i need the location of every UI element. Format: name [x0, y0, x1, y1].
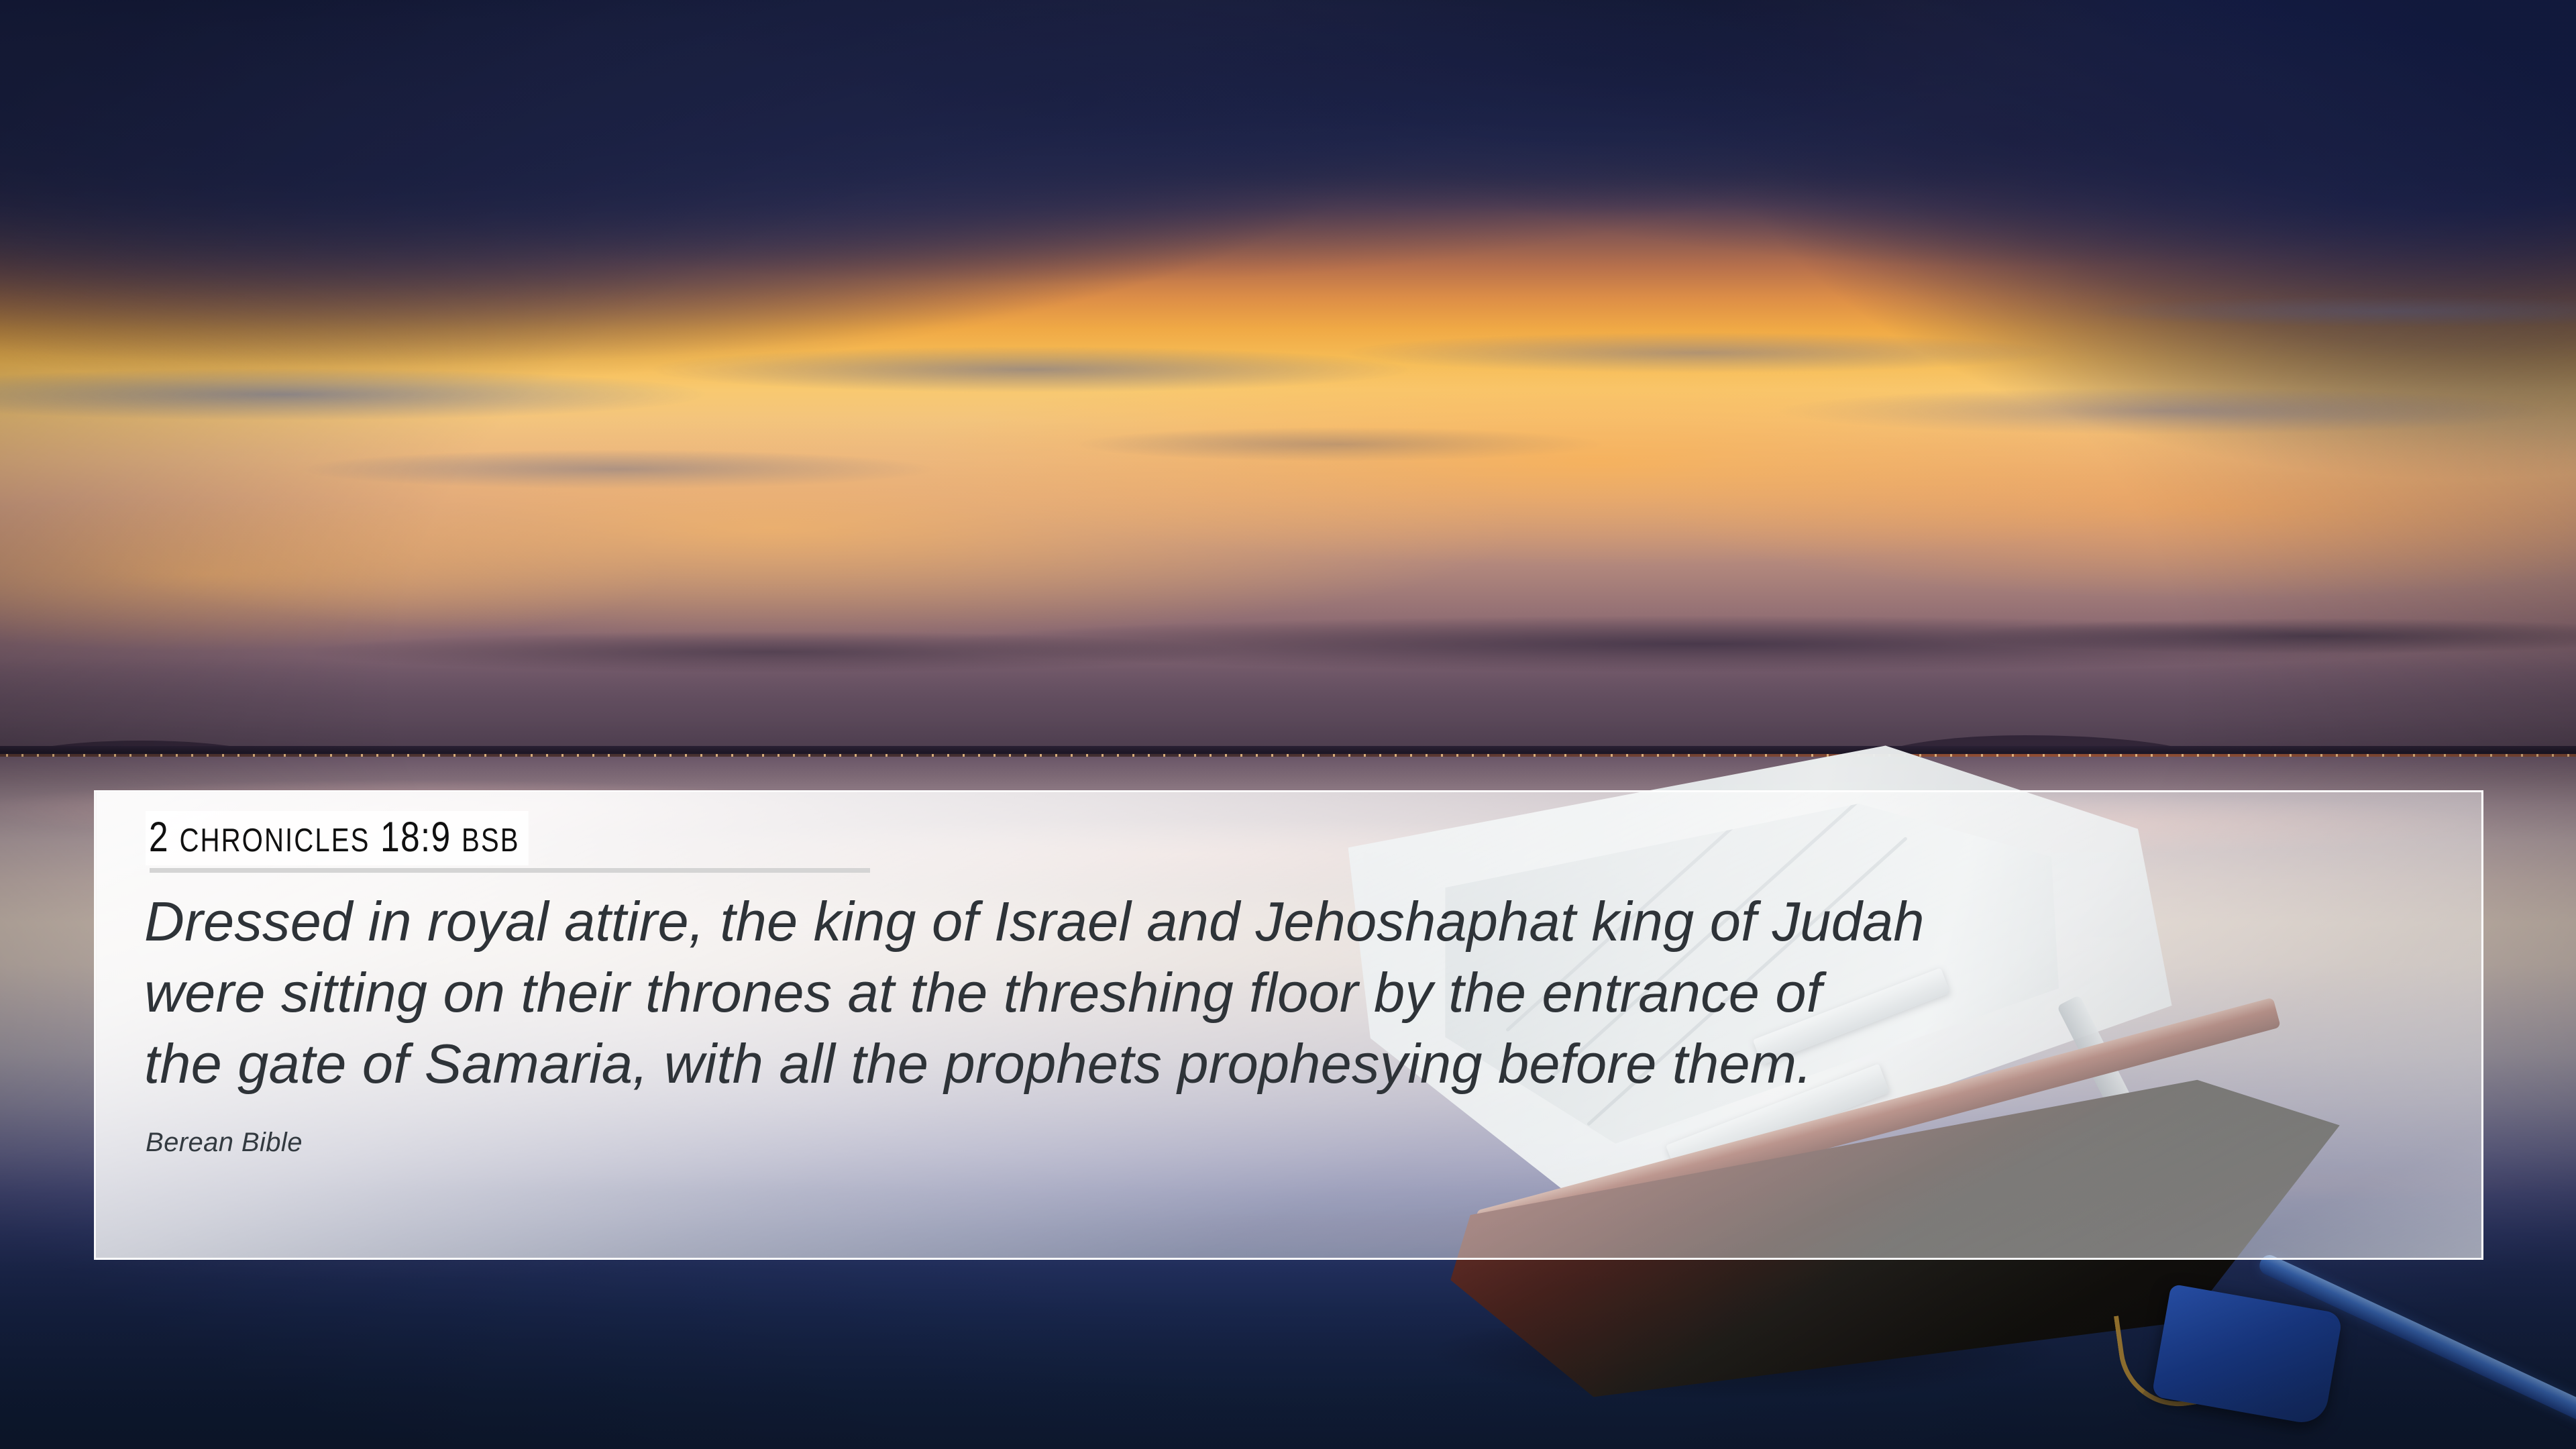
- verse-attribution: Berean Bible: [146, 1128, 303, 1158]
- reference-chapter-verse: 18:9: [370, 814, 462, 861]
- verse-reference: 2 CHRONICLES 18:9 BSB: [146, 811, 529, 865]
- reference-translation: BSB: [462, 822, 520, 859]
- screenshot-canvas: 2 CHRONICLES 18:9 BSB Dressed in royal a…: [0, 0, 2576, 1449]
- verse-overlay-panel: 2 CHRONICLES 18:9 BSB Dressed in royal a…: [94, 790, 2483, 1260]
- verse-text: Dressed in royal attire, the king of Isr…: [144, 886, 2438, 1100]
- verse-line-2: were sitting on their thrones at the thr…: [144, 957, 2438, 1028]
- reference-underline: [150, 868, 870, 873]
- verse-line-3: the gate of Samaria, with all the prophe…: [144, 1028, 2438, 1099]
- reference-book-name: CHRONICLES: [179, 822, 370, 859]
- reference-book-number: 2: [149, 814, 180, 861]
- verse-reference-wrap: 2 CHRONICLES 18:9 BSB: [146, 811, 612, 865]
- verse-line-1: Dressed in royal attire, the king of Isr…: [144, 886, 2438, 957]
